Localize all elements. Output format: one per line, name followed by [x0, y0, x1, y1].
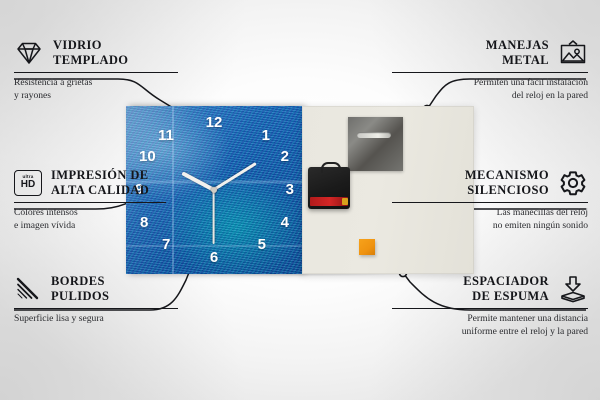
mechanism-hanging-loop [321, 162, 341, 173]
feature-description: Superficie lisa y segura [14, 313, 194, 326]
feature-divider [14, 308, 178, 310]
quartz-mechanism-box [308, 167, 350, 209]
feature-title: Espaciador de Espuma [463, 274, 549, 304]
feature-title: Mecanismo Silencioso [465, 168, 549, 198]
gear-icon [558, 169, 588, 197]
beveled-edge-icon [14, 276, 42, 302]
hanging-frame-icon [558, 39, 588, 67]
feature-divider [392, 308, 588, 310]
feature-mecanismo-silencioso: Mecanismo Silencioso Las manecillas del … [392, 168, 588, 233]
metal-hanger-plate [348, 117, 403, 171]
feature-espaciador-de-espuma: Espaciador de Espuma Permite mantener un… [392, 274, 588, 339]
feature-divider [14, 202, 166, 204]
foam-spacer-pad [359, 239, 375, 255]
feature-title: Bordes Pulidos [51, 274, 109, 304]
battery-terminal [342, 198, 348, 205]
feature-title: Impresión de Alta Calidad [51, 168, 149, 198]
feature-impresion-alta-calidad: ultra HD Impresión de Alta Calidad Color… [14, 168, 194, 233]
feature-description: Las manecillas del reloj no emiten ningú… [392, 207, 588, 233]
feature-description: Resistencia a grietas y rayones [14, 77, 194, 103]
feature-bordes-pulidos: Bordes Pulidos Superficie lisa y segura [14, 274, 194, 326]
ultra-hd-icon-large-label: HD [21, 180, 35, 190]
diamond-icon [14, 40, 44, 66]
feature-description: Permiten una fácil instalación del reloj… [392, 77, 588, 103]
hanger-slot [357, 132, 391, 138]
feature-divider [392, 72, 588, 74]
infographic-canvas: 12 1 2 3 4 5 6 7 8 9 10 11 [0, 0, 600, 400]
feature-vidrio-templado: Vidrio Templado Resistencia a grietas y … [14, 38, 194, 103]
feature-title: Vidrio Templado [53, 38, 128, 68]
feature-description: Permite mantener una distancia uniforme … [392, 313, 588, 339]
feature-manejas-metal: Manejas Metal Permiten una fácil instala… [392, 38, 588, 103]
feature-title: Manejas Metal [486, 38, 549, 68]
ultra-hd-icon: ultra HD [14, 170, 42, 196]
press-foam-icon [558, 275, 588, 303]
feature-divider [392, 202, 588, 204]
feature-description: Colores intensos e imagen vívida [14, 207, 194, 233]
feature-divider [14, 72, 178, 74]
